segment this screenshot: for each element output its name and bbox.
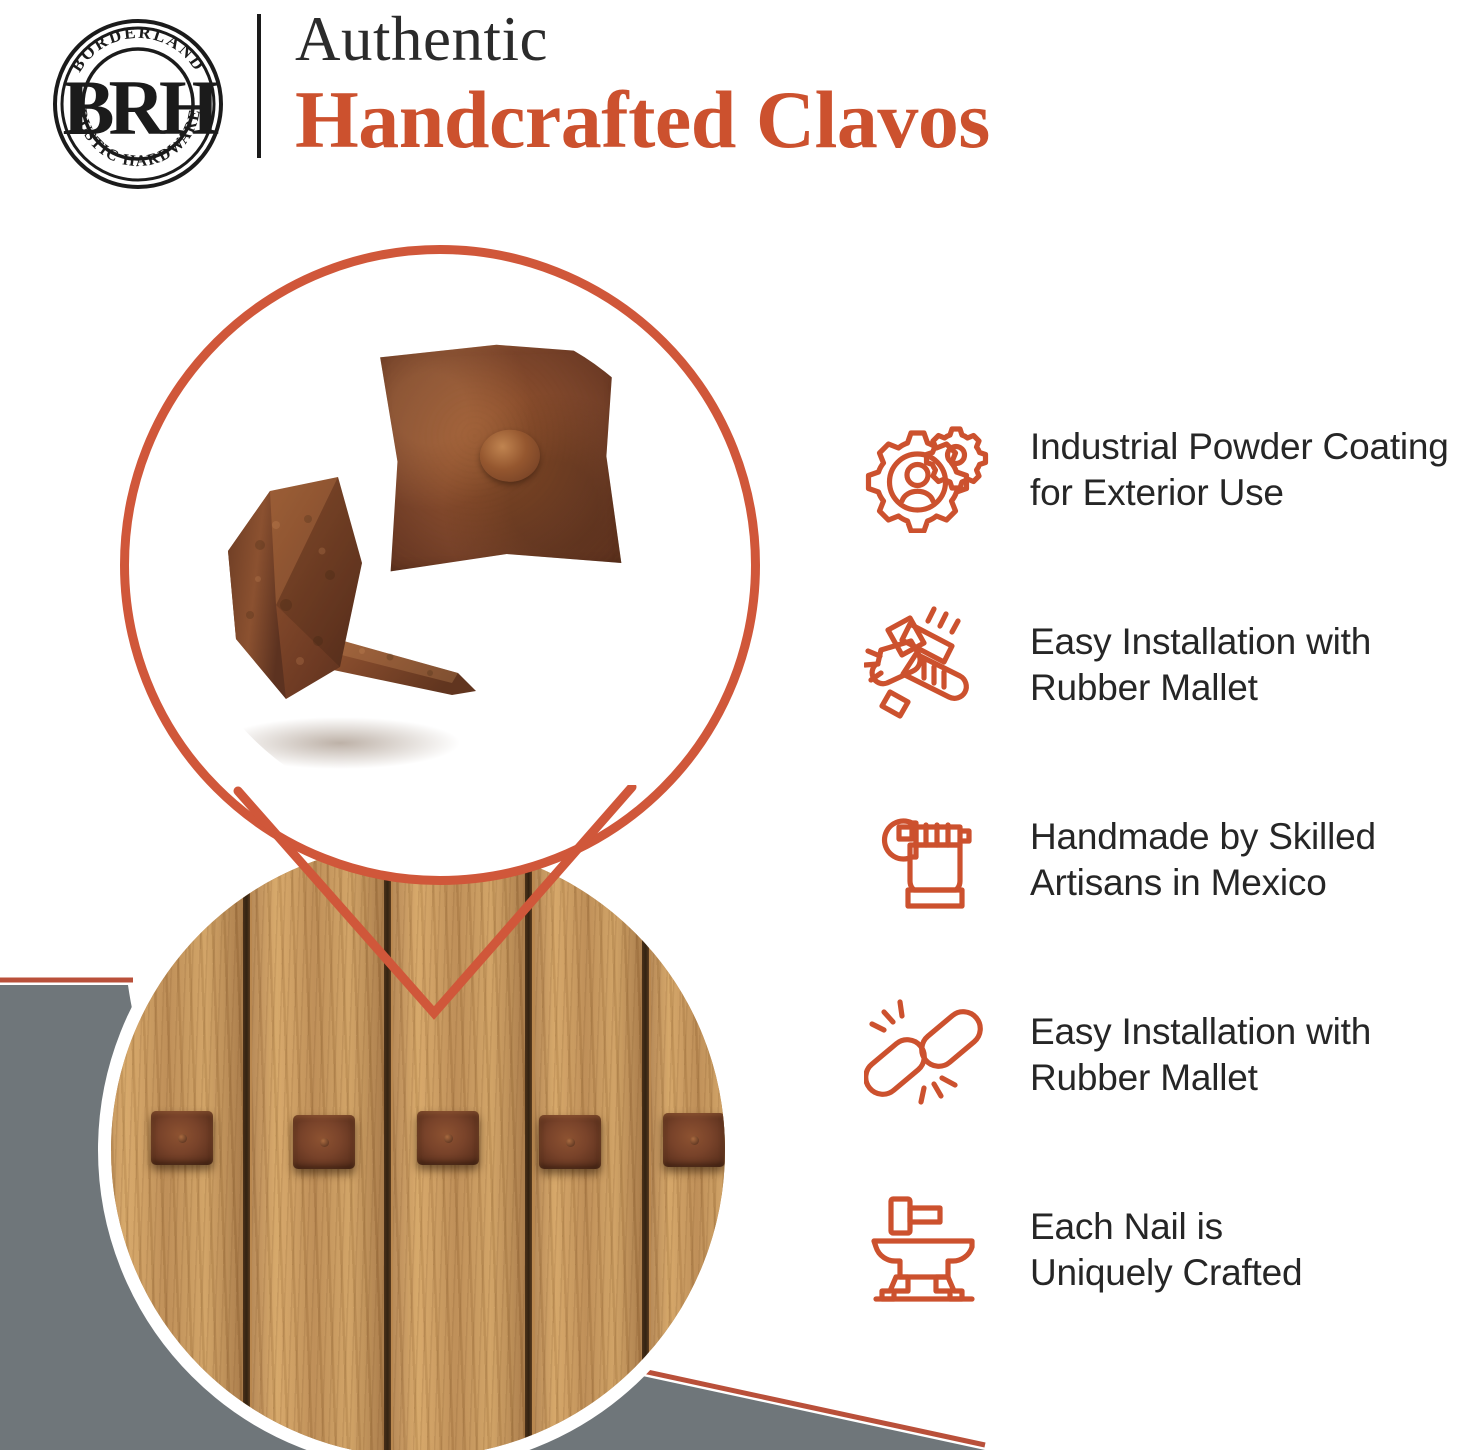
feature-line2: Artisans in Mexico	[1030, 860, 1376, 906]
feature-row: Each Nail is Uniquely Crafted	[852, 1152, 1477, 1347]
gear-person-icon	[852, 407, 1002, 533]
feature-row: Industrial Powder Coating for Exterior U…	[852, 372, 1477, 567]
clavo-angled-with-shank	[190, 455, 520, 785]
feature-line1: Easy Installation with	[1030, 619, 1371, 665]
feature-line2: for Exterior Use	[1030, 470, 1449, 516]
installed-clavo	[417, 1111, 479, 1165]
header: BORDERLAND RUSTIC HARDWARE BRH Authentic…	[0, 0, 1477, 200]
header-text-block: Authentic Handcrafted Clavos	[295, 4, 990, 166]
feature-line1: Each Nail is	[1030, 1204, 1302, 1250]
infographic-page: BORDERLAND RUSTIC HARDWARE BRH Authentic…	[0, 0, 1477, 1450]
feature-row: Easy Installation with Rubber Mallet	[852, 957, 1477, 1152]
feature-label: Easy Installation with Rubber Mallet	[1002, 619, 1371, 711]
installed-clavo	[293, 1115, 355, 1169]
feature-line1: Handmade by Skilled	[1030, 814, 1376, 860]
feature-label: Handmade by Skilled Artisans in Mexico	[1002, 814, 1376, 906]
product-callout	[120, 245, 760, 885]
feature-label: Easy Installation with Rubber Mallet	[1002, 1009, 1371, 1101]
visual-column	[0, 200, 840, 1450]
header-divider	[257, 14, 261, 158]
features-list: Industrial Powder Coating for Exterior U…	[852, 372, 1477, 1347]
feature-row: Easy Installation with Rubber Mallet	[852, 567, 1477, 762]
installed-clavo	[151, 1111, 213, 1165]
feature-line2: Uniquely Crafted	[1030, 1250, 1302, 1296]
feature-label: Each Nail is Uniquely Crafted	[1002, 1204, 1302, 1296]
chain-link-icon	[852, 992, 1002, 1118]
fist-wrench-icon	[852, 797, 1002, 923]
installed-clavo	[663, 1113, 725, 1167]
anvil-hammer-icon	[852, 1187, 1002, 1313]
callout-pointer-icon	[232, 785, 652, 1025]
feature-line1: Easy Installation with	[1030, 1009, 1371, 1055]
brand-logo-icon: BORDERLAND RUSTIC HARDWARE BRH	[52, 18, 224, 190]
feature-line2: Rubber Mallet	[1030, 665, 1371, 711]
feature-label: Industrial Powder Coating for Exterior U…	[1002, 424, 1449, 516]
mallet-hand-icon	[852, 602, 1002, 728]
feature-row: Handmade by Skilled Artisans in Mexico	[852, 762, 1477, 957]
installed-clavo	[539, 1115, 601, 1169]
product-photo	[180, 315, 700, 815]
svg-text:BRH: BRH	[62, 64, 218, 151]
page-title: Handcrafted Clavos	[295, 74, 990, 166]
feature-line1: Industrial Powder Coating	[1030, 424, 1449, 470]
header-eyebrow: Authentic	[295, 4, 990, 74]
feature-line2: Rubber Mallet	[1030, 1055, 1371, 1101]
